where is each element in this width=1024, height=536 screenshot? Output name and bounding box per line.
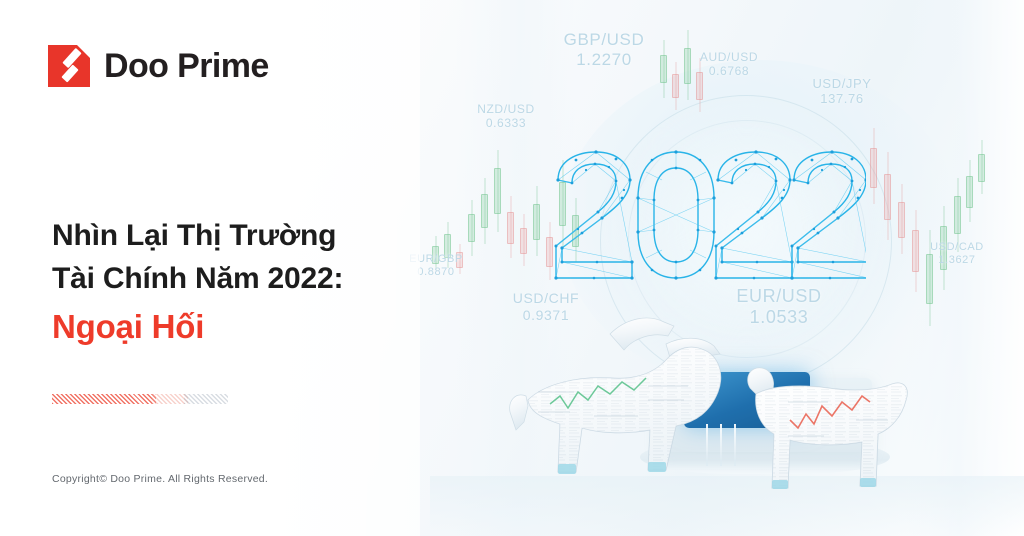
decorative-divider bbox=[52, 394, 228, 404]
brand-logo[interactable]: Doo Prime bbox=[48, 45, 269, 87]
headline: Nhìn Lại Thị Trường Tài Chính Năm 2022: … bbox=[52, 215, 452, 351]
brand-name: Doo Prime bbox=[104, 47, 269, 86]
copyright-text: Copyright© Doo Prime. All Rights Reserve… bbox=[52, 473, 268, 485]
headline-line-2: Tài Chính Năm 2022: bbox=[52, 258, 452, 301]
divider-segment-red bbox=[52, 394, 156, 404]
divider-segment-grey bbox=[184, 394, 228, 404]
marketing-banner: GBP/USD1.2270AUD/USD0.6768USD/JPY137.76N… bbox=[0, 0, 1024, 536]
divider-segment-fade bbox=[152, 394, 188, 404]
logo-slash-lower bbox=[61, 65, 78, 83]
headline-line-1: Nhìn Lại Thị Trường bbox=[52, 215, 452, 258]
headline-line-3-accent: Ngoại Hối bbox=[52, 304, 452, 351]
banner-content: Doo Prime Nhìn Lại Thị Trường Tài Chính … bbox=[0, 0, 1024, 536]
doo-prime-logo-mark-icon bbox=[48, 45, 90, 87]
